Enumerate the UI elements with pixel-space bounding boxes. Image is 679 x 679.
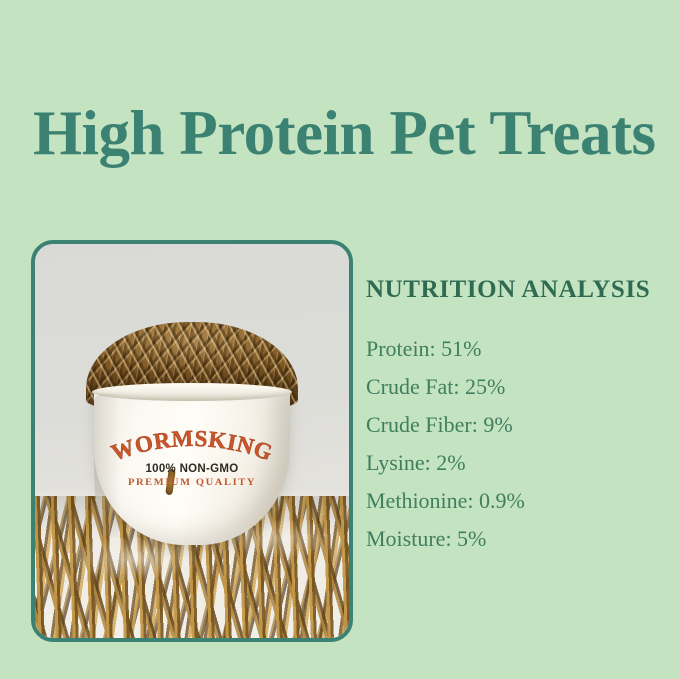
nutrition-panel: NUTRITION ANALYSIS Protein: 51% Crude Fa… (366, 276, 666, 566)
nutrition-item-methionine: Methionine: 0.9% (366, 490, 666, 512)
product-infographic: High Protein Pet Treats (0, 0, 679, 679)
nutrition-item-protein: Protein: 51% (366, 338, 666, 360)
nutrition-heading: NUTRITION ANALYSIS (366, 276, 666, 304)
nutrition-item-moisture: Moisture: 5% (366, 528, 666, 550)
bowl-left-shading (94, 394, 120, 537)
nutrition-item-crude-fiber: Crude Fiber: 9% (366, 414, 666, 436)
nutrition-list: Protein: 51% Crude Fat: 25% Crude Fiber:… (366, 338, 666, 550)
nutrition-item-lysine: Lysine: 2% (366, 452, 666, 474)
nutrition-item-crude-fat: Crude Fat: 25% (366, 376, 666, 398)
product-photo: WORMSKING 100% NON-GMO PREMIUM QUALITY (35, 244, 349, 638)
product-photo-frame: WORMSKING 100% NON-GMO PREMIUM QUALITY (31, 240, 353, 642)
bowl-rim (92, 383, 292, 401)
page-title: High Protein Pet Treats (33, 100, 656, 166)
